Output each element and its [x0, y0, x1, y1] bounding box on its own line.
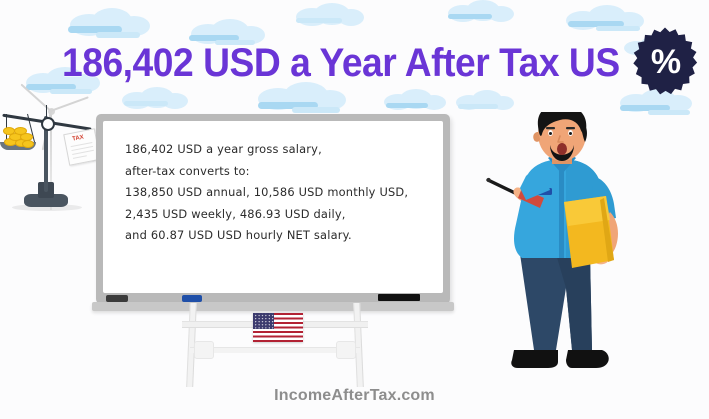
- cloud-icon: [452, 90, 522, 114]
- eyebrow-left: [546, 127, 555, 129]
- cloud-icon: [380, 88, 454, 114]
- shirt-placket: [559, 170, 564, 258]
- yellow-folder-icon: [564, 196, 614, 268]
- blue-marker-icon: [182, 295, 202, 302]
- percent-badge-icon: %: [629, 26, 701, 98]
- pupil-right: [569, 132, 572, 135]
- eraser-icon: [106, 295, 128, 302]
- flag-canton: [253, 313, 274, 329]
- black-marker-icon: [378, 294, 420, 301]
- shoe-left: [511, 350, 558, 368]
- mouth: [557, 143, 567, 155]
- stand-knob-left: [194, 341, 214, 359]
- whiteboard-line: and 60.87 USD USD hourly NET salary.: [125, 225, 433, 247]
- stand-crossbar-bottom: [190, 347, 360, 353]
- pupil-left: [549, 132, 552, 135]
- teacher-presenter-illustration: [486, 112, 666, 397]
- gold-coins-icon: [2, 126, 34, 148]
- scale-pivot: [41, 117, 55, 131]
- infographic-canvas: 186,402 USD a Year After Tax US %: [0, 0, 709, 419]
- whiteboard-line: after-tax converts to:: [125, 161, 433, 183]
- whiteboard-text: 186,402 USD a year gross salary, after-t…: [125, 139, 433, 247]
- stand-knob-right: [336, 341, 356, 359]
- whiteboard-surface: 186,402 USD a year gross salary, after-t…: [103, 121, 443, 293]
- flag-stars: [253, 313, 274, 329]
- tax-document-label: TAX: [72, 135, 84, 143]
- page-title: 186,402 USD a Year After Tax US: [62, 41, 620, 86]
- balance-scale-icon: TAX: [0, 108, 108, 208]
- title-area: 186,402 USD a Year After Tax US: [0, 20, 709, 82]
- whiteboard: 186,402 USD a year gross salary, after-t…: [96, 114, 450, 304]
- footer-site-name: IncomeAfterTax.com: [0, 387, 709, 405]
- eyebrow-right: [566, 127, 575, 129]
- character-svg: [486, 112, 666, 397]
- whiteboard-line: 2,435 USD weekly, 486.93 USD daily,: [125, 204, 433, 226]
- whiteboard-line: 186,402 USD a year gross salary,: [125, 139, 433, 161]
- percent-glyph: %: [629, 26, 701, 98]
- us-flag-icon: [253, 313, 303, 342]
- whiteboard-line: 138,850 USD annual, 10,586 USD monthly U…: [125, 182, 433, 204]
- shoe-right: [566, 350, 609, 368]
- cloud-icon: [118, 86, 196, 112]
